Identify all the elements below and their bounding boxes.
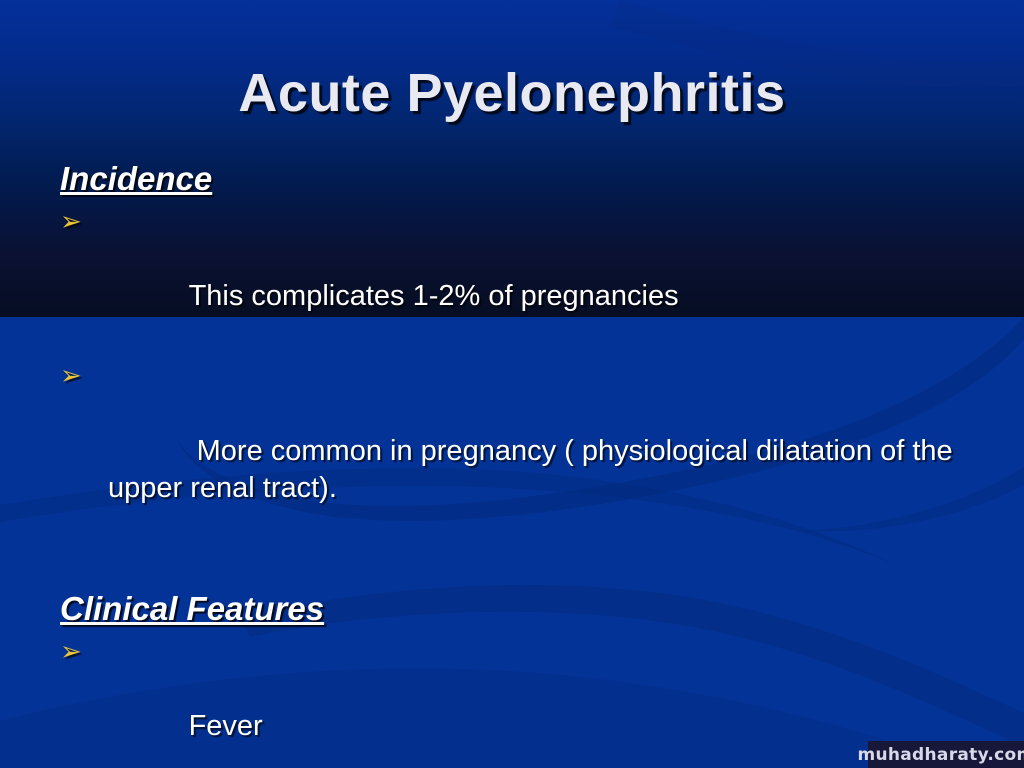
section-heading-clinical-features: Clinical Features	[60, 590, 986, 628]
section-incidence: Incidence ➢ This complicates 1-2% of pre…	[56, 160, 986, 544]
section-spacer	[56, 550, 986, 590]
watermark-muhadharaty: muhadharaty.com	[868, 741, 1024, 768]
section-heading-incidence: Incidence	[60, 160, 986, 198]
slide-body: Incidence ➢ This complicates 1-2% of pre…	[56, 160, 986, 768]
list-item: ➢ This complicates 1-2% of pregnancies	[56, 204, 986, 352]
list-item-text: More common in pregnancy ( physiological…	[108, 435, 961, 504]
arrow-bullet-icon: ➢	[60, 206, 86, 236]
bullet-list-incidence: ➢ This complicates 1-2% of pregnancies ➢…	[56, 204, 986, 544]
arrow-bullet-icon: ➢	[60, 360, 86, 390]
section-clinical-features: Clinical Features ➢ Fever ➢ Loin and abd…	[56, 590, 986, 768]
list-item: ➢ More common in pregnancy ( physiologic…	[56, 358, 986, 544]
slide-canvas: Acute Pyelonephritis Incidence ➢ This co…	[0, 0, 1024, 768]
bullet-list-clinical-features: ➢ Fever ➢ Loin and abdominal pain ➢ Vomi…	[56, 634, 986, 768]
list-item: ➢ Fever	[56, 634, 986, 768]
list-item-text: Fever	[189, 710, 263, 742]
list-item-text: This complicates 1-2% of pregnancies	[189, 280, 679, 312]
arrow-bullet-icon: ➢	[60, 636, 86, 666]
slide-title: Acute Pyelonephritis	[0, 62, 1024, 124]
